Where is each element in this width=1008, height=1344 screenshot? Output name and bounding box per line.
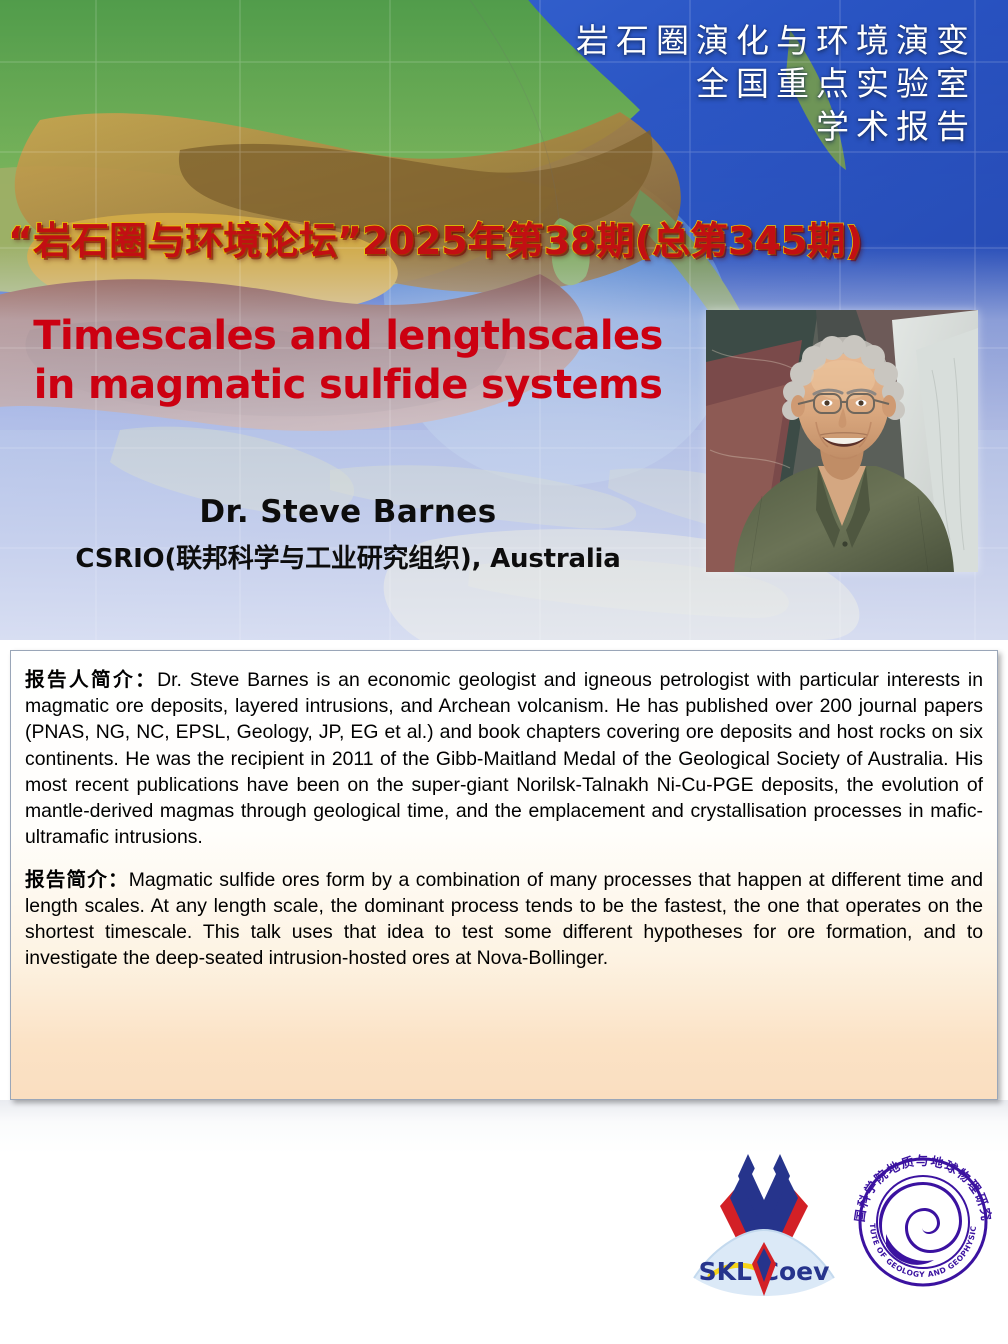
- bio-paragraph: 报告人简介：Dr. Steve Barnes is an economic ge…: [25, 667, 983, 850]
- speaker-name: Dr. Steve Barnes: [18, 494, 678, 530]
- speaker-portrait-graphic: [706, 310, 978, 572]
- summary-text: Magmatic sulfide ores form by a combinat…: [25, 869, 983, 970]
- skl-coev-logo: SKL Coev: [686, 1146, 842, 1298]
- speaker-portrait: [706, 310, 978, 572]
- lab-header-line-3: 学术报告: [576, 106, 976, 149]
- bio-text: Dr. Steve Barnes is an economic geologis…: [25, 669, 983, 848]
- talk-title: Timescales and lengthscales in magmatic …: [18, 312, 678, 410]
- skl-coev-logo-graphic: SKL Coev: [686, 1146, 842, 1298]
- abstract-panel: 报告人简介：Dr. Steve Barnes is an economic ge…: [10, 650, 998, 1100]
- bio-label: 报告人简介：: [25, 668, 157, 691]
- lab-header-line-2: 全国重点实验室: [576, 63, 976, 106]
- speaker-affiliation: CSRIO(联邦科学与工业研究组织), Australia: [18, 538, 678, 575]
- summary-paragraph: 报告简介：Magmatic sulfide ores form by a com…: [25, 867, 983, 972]
- summary-label: 报告简介：: [25, 868, 129, 891]
- poster-root: 岩石圈演化与环境演变 全国重点实验室 学术报告 “岩石圈与环境论坛”2025年第…: [0, 0, 1008, 1344]
- forum-series-banner: “岩石圈与环境论坛”2025年第38期(总第345期): [8, 210, 863, 265]
- lab-header-block: 岩石圈演化与环境演变 全国重点实验室 学术报告: [576, 20, 976, 149]
- igg-cas-seal: 中国科学院地质与地球物理研究所 INSTITUTE OF GEOLOGY AND…: [842, 1138, 1004, 1300]
- lab-header-line-1: 岩石圈演化与环境演变: [576, 20, 976, 63]
- igg-cas-seal-graphic: 中国科学院地质与地球物理研究所 INSTITUTE OF GEOLOGY AND…: [842, 1138, 1004, 1300]
